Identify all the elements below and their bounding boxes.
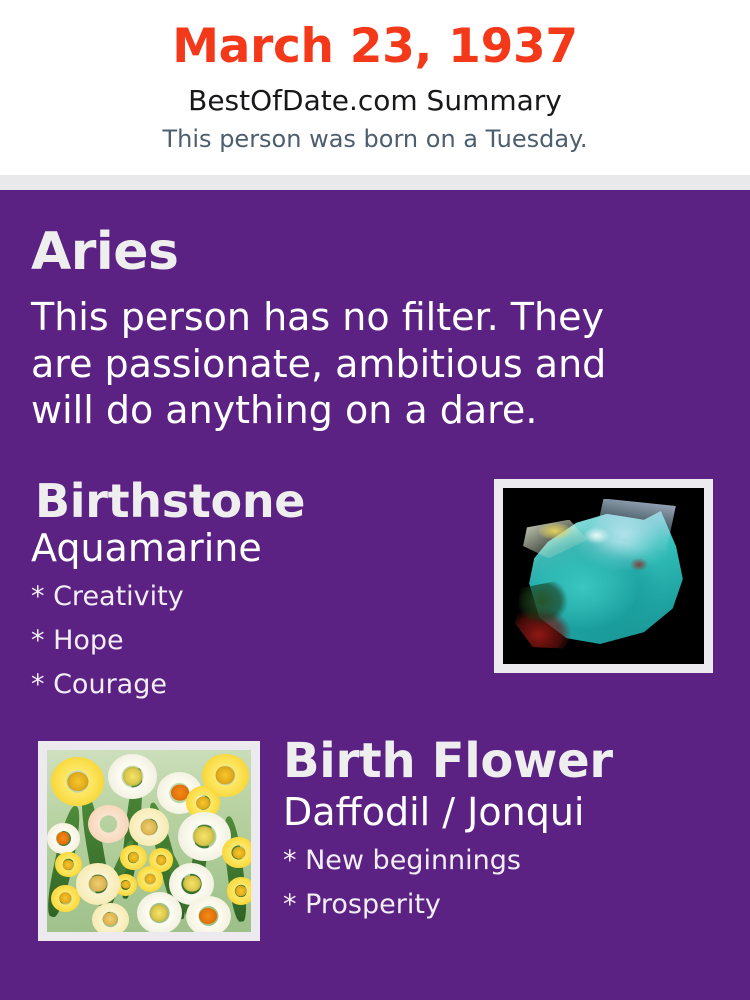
site-name: BestOfDate.com Summary <box>0 86 750 117</box>
zodiac-description: This person has no filter. They are pass… <box>31 294 651 434</box>
daffodil-icon <box>76 863 121 905</box>
crystal-inclusion-icon <box>630 558 648 570</box>
birthstone-image-frame <box>494 479 713 673</box>
birthflower-name: Daffodil / Jonqui <box>283 793 584 831</box>
summary-card: March 23, 1937 BestOfDate.com Summary Th… <box>0 0 750 1000</box>
list-item: * Hope <box>31 627 451 654</box>
birthflower-image-frame <box>38 741 260 941</box>
daffodil-icon <box>227 877 251 904</box>
daffodil-icon <box>120 845 147 870</box>
birthstone-trait-list: * Creativity * Hope * Courage <box>31 583 451 715</box>
daffodil-icon <box>222 837 251 868</box>
daffodil-icon <box>137 892 182 932</box>
list-item: * Creativity <box>31 583 451 610</box>
list-item: * New beginnings <box>283 847 723 874</box>
daffodil-icon <box>137 866 164 891</box>
daffodil-icon <box>186 896 231 932</box>
birthstone-name: Aquamarine <box>31 529 262 567</box>
list-item: * Courage <box>31 671 451 698</box>
daffodil-icon <box>108 754 157 800</box>
daffodil-icon <box>92 903 129 932</box>
header-divider <box>0 175 750 190</box>
birthstone-title: Birthstone <box>35 478 305 524</box>
birthflower-trait-list: * New beginnings * Prosperity <box>283 847 723 935</box>
birthflower-title: Birth Flower <box>283 737 613 785</box>
zodiac-sign-title: Aries <box>31 226 178 278</box>
content-panel: Aries This person has no filter. They ar… <box>0 190 750 1000</box>
daffodil-icon <box>47 823 80 854</box>
card-header: March 23, 1937 BestOfDate.com Summary Th… <box>0 0 750 175</box>
weekday-note: This person was born on a Tuesday. <box>0 126 750 152</box>
daffodil-icon <box>51 885 80 912</box>
daffodil-icon <box>88 805 129 843</box>
crystal-highlight-icon <box>583 527 609 545</box>
list-item: * Prosperity <box>283 891 723 918</box>
birthflower-photo <box>47 750 251 932</box>
page-title-date: March 23, 1937 <box>0 22 750 71</box>
birthstone-photo <box>503 488 704 664</box>
daffodil-icon <box>51 757 104 806</box>
